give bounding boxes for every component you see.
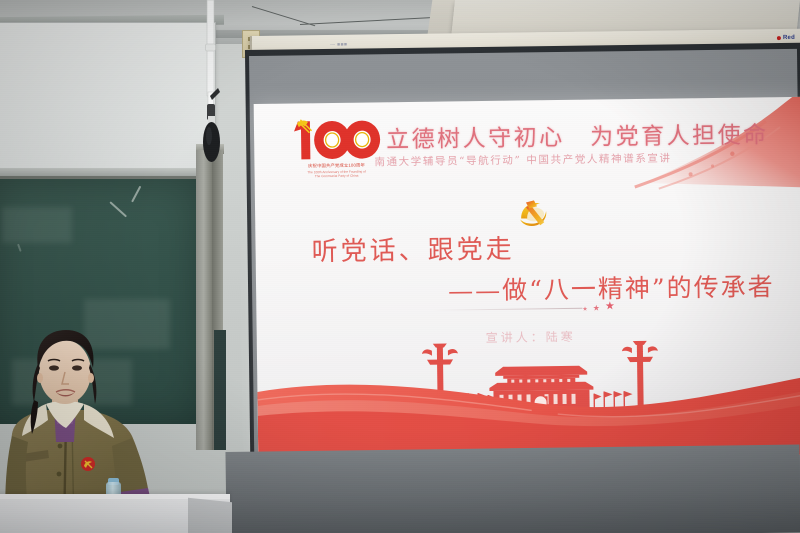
star-icon-3: ★ (605, 299, 618, 312)
hanging-microphone (190, 0, 232, 168)
classroom-photo: — ■■■ Red (0, 0, 800, 533)
chalk-mark (17, 244, 22, 252)
logo-caption-en-line2: The Communist Party of China (289, 174, 385, 180)
logo-caption-en: The 100th Anniversary of the Founding of… (289, 169, 385, 179)
chalk-mark (109, 201, 127, 217)
presentation-slide[interactable]: 庆祝中国共产党成立100周年 The 100th Anniversary of … (254, 97, 800, 462)
star-icon-2: ★ (593, 303, 603, 312)
logo-caption-cn: 庆祝中国共产党成立100周年 (288, 162, 384, 169)
star-icon-1: ★ (582, 306, 590, 313)
party-emblem-pin (81, 457, 95, 471)
cpc-centenary-logo: 庆祝中国共产党成立100周年 The 100th Anniversary of … (288, 114, 385, 187)
lectern-side-panel (188, 498, 232, 533)
whiteboard (0, 22, 216, 176)
housing-label: — ■■■ (330, 42, 348, 48)
chalkboard-track-slot (214, 330, 226, 450)
decorative-stars: ★ ★ ★ (582, 299, 618, 312)
lower-wall-shelf-shadow (226, 492, 800, 533)
chalk-mark (131, 186, 141, 203)
slide-heading-line1: 听党话、跟党走 (311, 229, 514, 269)
slide-title-main: 立德树人守初心 为党育人担使命 (386, 115, 786, 154)
brand-dot-icon (777, 36, 781, 40)
decorative-rule (432, 308, 582, 311)
housing-brand: Red (777, 35, 795, 41)
tiananmen-skyline-band (257, 337, 800, 462)
chalkboard-slide-track (196, 150, 213, 450)
hammer-and-sickle-icon (513, 196, 557, 231)
brand-text: Red (783, 35, 795, 41)
